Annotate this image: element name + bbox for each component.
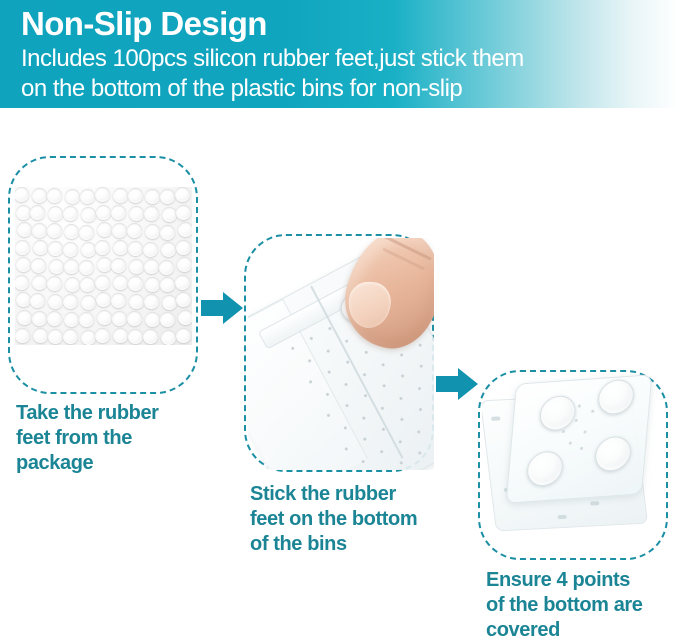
bin-texture-dot	[346, 360, 350, 364]
rubber-foot-dot	[175, 275, 190, 290]
rubber-foot-dot	[81, 207, 96, 222]
rubber-foot-dot	[162, 207, 177, 222]
rubber-foot-dot	[97, 257, 112, 272]
rubber-foot-dot	[65, 277, 80, 292]
rubber-foot-dot	[96, 292, 111, 307]
stick-feet-on-bin-image	[248, 238, 434, 470]
rubber-foot-dot	[81, 330, 96, 345]
bin-with-four-feet-image	[482, 374, 668, 556]
bin-texture-dot	[326, 349, 330, 353]
rubber-foot-dot	[81, 295, 96, 310]
rubber-foot-dot	[33, 240, 48, 255]
thumb-tip	[347, 281, 392, 330]
rubber-foot-dot	[175, 187, 190, 202]
rubber-foot-dot	[48, 241, 63, 256]
bin-texture-dot	[363, 373, 367, 377]
rubber-foot-dot	[16, 205, 31, 220]
bin-texture-dot	[400, 417, 404, 421]
bin-texture-dot	[363, 437, 367, 441]
bin-texture-dot	[418, 408, 422, 412]
step-1-caption: Take the rubber feet from the package	[16, 401, 159, 476]
bin-texture-dot	[399, 461, 403, 465]
rubber-foot-dot	[81, 242, 96, 257]
bin-texture-dot	[344, 383, 348, 387]
bin-speck	[575, 419, 578, 422]
header-subtitle: Includes 100pcs silicon rubber feet,just…	[21, 44, 524, 104]
bin-texture-dot	[344, 447, 348, 451]
bin-texture-dot	[361, 460, 365, 464]
rubber-foot-dot	[64, 312, 79, 327]
rubber-foot-dot	[16, 257, 31, 272]
rubber-foot-dot	[63, 329, 78, 344]
bin-texture-dot	[381, 363, 385, 367]
rubber-foot-dot	[111, 258, 126, 273]
bin-texture-dot	[343, 426, 347, 430]
rubber-foot-dot	[129, 294, 144, 309]
bin-texture-dot	[417, 387, 421, 391]
rubber-foot-dot	[30, 293, 45, 308]
rubber-foot-dot	[129, 259, 144, 274]
rubber-foot-dot	[143, 329, 158, 344]
bin-speck	[580, 447, 583, 450]
bin-texture-dot	[325, 392, 329, 396]
rubber-foot-dot	[15, 240, 30, 255]
rubber-foot-dot	[80, 277, 95, 292]
rubber-foot-dot	[65, 189, 80, 204]
rubber-foot-dot	[113, 188, 128, 203]
bin-texture-dot	[381, 427, 385, 431]
bin-texture-dot	[382, 384, 386, 388]
rubber-foot-dot	[15, 275, 29, 290]
rubber-foot-dot	[127, 311, 142, 326]
bin-speck	[578, 404, 581, 407]
rubber-foot-dot	[79, 225, 94, 240]
bin-corner-tab	[491, 416, 500, 420]
rubber-foot-dot	[96, 205, 111, 220]
step-2-caption: Stick the rubber feet on the bottom of t…	[250, 482, 417, 557]
rubber-foot-dot	[15, 187, 29, 202]
rubber-foot-dot	[47, 188, 62, 203]
rubber-foot-dot	[176, 205, 191, 220]
bin-speck	[591, 410, 594, 413]
rubber-foot-dot	[143, 242, 158, 257]
rubber-foot-dot	[49, 259, 64, 274]
rubber-foot-dot	[32, 188, 47, 203]
bin-texture-dot	[345, 404, 349, 408]
rubber-foot-dot	[47, 276, 62, 291]
rubber-foot-dot	[64, 224, 79, 239]
rubber-foot-dot	[48, 294, 63, 309]
bin-texture-dot	[327, 370, 331, 374]
page-title: Non-Slip Design	[21, 4, 267, 44]
rubber-foot-dot	[128, 241, 143, 256]
rubber-foot-dot	[128, 329, 143, 344]
bin-texture-dot	[326, 413, 330, 417]
rubber-foot-dot	[32, 311, 47, 326]
rubber-foot-dot	[112, 223, 127, 238]
rubber-foot-dot	[32, 275, 47, 290]
rubber-foot-dot	[162, 295, 177, 310]
rubber-foot-dot	[95, 328, 110, 343]
rubber-foot-dot	[161, 242, 176, 257]
arrow-right-icon-2	[436, 367, 478, 401]
step-3-caption: Ensure 4 points of the bottom are covere…	[486, 568, 643, 643]
rubber-foot-dot	[145, 312, 160, 327]
rubber-foot-dot	[16, 292, 31, 307]
bin-bottom-face	[506, 374, 653, 504]
bin-texture-dot	[417, 430, 421, 434]
rubber-foot-dot	[47, 311, 62, 326]
bin-speck	[583, 430, 586, 433]
rubber-foot-dot	[15, 328, 30, 343]
rubber-foot-dot	[129, 206, 144, 221]
thumb-crease-1	[382, 238, 432, 261]
rubber-foot-dot	[47, 223, 62, 238]
rubber-foot-dot	[97, 222, 112, 237]
rubber-foot-dot	[33, 328, 48, 343]
rubber-foot-dot	[176, 328, 191, 343]
bin-texture-dot	[400, 353, 404, 357]
rubber-foot-dot	[145, 277, 160, 292]
bin-corner-tab	[557, 515, 566, 519]
rubber-foot-dot	[144, 294, 159, 309]
rubber-foot-3	[526, 450, 565, 487]
bin-texture-dot	[328, 327, 332, 331]
rubber-foot-dot	[145, 224, 160, 239]
bin-texture-dot	[364, 394, 368, 398]
rubber-foot-dot	[111, 205, 126, 220]
bin-texture-dot	[380, 450, 384, 454]
rubber-foot-dot	[64, 259, 79, 274]
rubber-foot-dot	[113, 275, 128, 290]
bin-texture-dot	[399, 396, 403, 400]
rubber-foot-dot	[159, 260, 174, 275]
rubber-foot-dot	[17, 310, 32, 325]
rubber-foot-dot	[48, 329, 63, 344]
bin-speck	[569, 442, 572, 445]
rubber-foot-dot	[31, 258, 46, 273]
rubber-foot-dot	[48, 206, 63, 221]
rubber-feet-grid	[15, 187, 192, 345]
rubber-foot-4	[594, 435, 633, 472]
rubber-foot-dot	[32, 223, 47, 238]
bin-texture-dot	[309, 380, 313, 384]
rubber-foot-dot	[178, 222, 192, 237]
rubber-foot-dot	[80, 189, 95, 204]
rubber-foot-dot	[128, 276, 143, 291]
rubber-foot-dot	[113, 328, 128, 343]
rubber-foot-dot	[63, 242, 78, 257]
bin-texture-dot	[418, 343, 422, 347]
bin-texture-dot	[345, 339, 349, 343]
rubber-foot-dot	[128, 188, 143, 203]
bin-texture-dot	[309, 336, 313, 340]
rubber-foot-dot	[63, 294, 78, 309]
rubber-foot-dot	[30, 205, 45, 220]
rubber-foot-dot	[160, 312, 175, 327]
rubber-foot-dot	[145, 189, 160, 204]
bin-texture-dot	[401, 374, 405, 378]
bin-texture-dot	[362, 416, 366, 420]
rubber-foot-dot	[160, 225, 175, 240]
rubber-foot-dot	[113, 240, 128, 255]
rubber-foot-dot	[95, 187, 110, 202]
bin-texture-dot	[418, 451, 422, 455]
rubber-foot-dot	[160, 277, 175, 292]
rubber-foot-dot	[97, 310, 112, 325]
rubber-foot-dot	[17, 222, 32, 237]
bin-texture-dot	[419, 364, 423, 368]
bin-texture-dot	[364, 350, 368, 354]
rubber-foot-dot	[176, 240, 191, 255]
rubber-foot-dot	[160, 189, 175, 204]
rubber-foot-dot	[79, 312, 94, 327]
rubber-foot-1	[538, 395, 577, 432]
rubber-foot-dot	[177, 257, 192, 272]
arrow-right-icon-1	[201, 291, 243, 325]
rubber-foot-dot	[63, 206, 78, 221]
rubber-foot-dot	[79, 260, 94, 275]
rubber-foot-dot	[161, 330, 176, 345]
rubber-foot-dot	[178, 310, 192, 325]
rubber-foot-dot	[112, 311, 127, 326]
bin-corner-tab	[590, 501, 599, 505]
bin-texture-dot	[308, 359, 312, 363]
rubber-foot-dot	[95, 240, 110, 255]
bin-texture-dot	[380, 406, 384, 410]
bin-speck	[562, 430, 565, 433]
rubber-foot-dot	[111, 293, 126, 308]
rubber-foot-dot	[144, 206, 159, 221]
bin-texture-dot	[398, 440, 402, 444]
rubber-foot-dot	[144, 259, 159, 274]
rubber-foot-dot	[127, 223, 142, 238]
rubber-foot-dot	[176, 292, 191, 307]
rubber-foot-dot	[95, 275, 110, 290]
rubber-feet-sheet-image	[15, 187, 192, 345]
bin-texture-dot	[291, 346, 295, 350]
rubber-foot-2	[597, 378, 636, 415]
